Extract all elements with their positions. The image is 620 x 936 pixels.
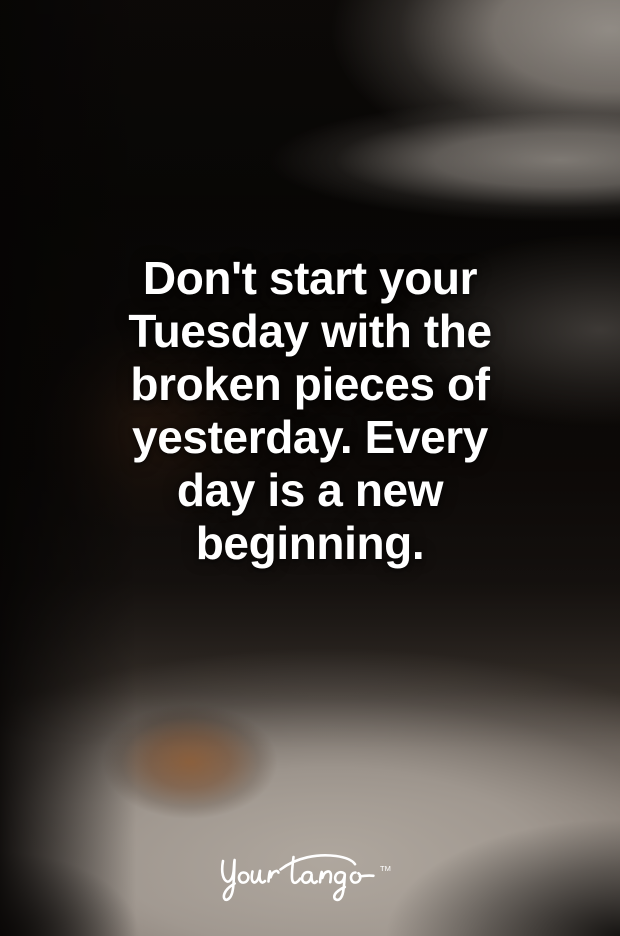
quote-card: Don't start your Tuesday with the broken… <box>0 0 620 936</box>
trademark-symbol: TM <box>380 864 391 873</box>
brand-logo: TM YourTango <box>0 845 620 909</box>
yourtango-logo-icon: TM <box>210 845 410 909</box>
quote-text: Don't start your Tuesday with the broken… <box>0 252 620 570</box>
